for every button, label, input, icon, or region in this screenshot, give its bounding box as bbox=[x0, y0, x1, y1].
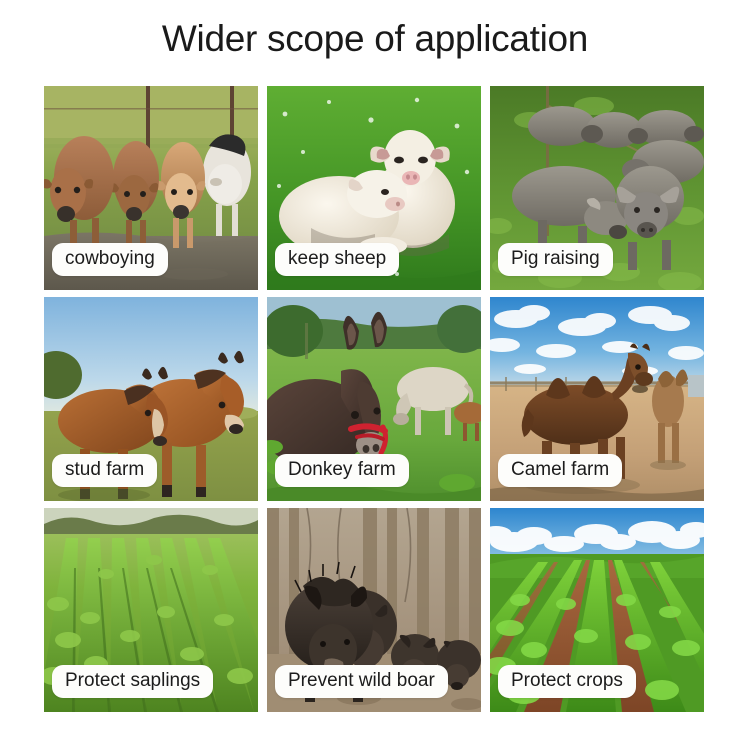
cell-label-keep-sheep: keep sheep bbox=[275, 243, 399, 276]
grid-cell-cowboying[interactable]: cowboying bbox=[44, 86, 258, 290]
grid-cell-protect-crops[interactable]: Protect crops bbox=[490, 508, 704, 712]
grid-cell-camel-farm[interactable]: Camel farm bbox=[490, 297, 704, 501]
grid-cell-prevent-wild-boar[interactable]: Prevent wild boar bbox=[267, 508, 481, 712]
cell-label-protect-saplings: Protect saplings bbox=[52, 665, 213, 698]
page-title: Wider scope of application bbox=[0, 18, 750, 60]
application-grid: cowboying bbox=[44, 86, 704, 712]
grid-cell-donkey-farm[interactable]: Donkey farm bbox=[267, 297, 481, 501]
application-scope-infographic: Wider scope of application bbox=[0, 0, 750, 750]
cell-label-camel-farm: Camel farm bbox=[498, 454, 622, 487]
grid-cell-keep-sheep[interactable]: keep sheep bbox=[267, 86, 481, 290]
cell-label-cowboying: cowboying bbox=[52, 243, 168, 276]
grid-cell-protect-saplings[interactable]: Protect saplings bbox=[44, 508, 258, 712]
grid-cell-stud-farm[interactable]: stud farm bbox=[44, 297, 258, 501]
grid-cell-pig-raising[interactable]: Pig raising bbox=[490, 86, 704, 290]
cell-label-pig-raising: Pig raising bbox=[498, 243, 613, 276]
cell-label-prevent-wild-boar: Prevent wild boar bbox=[275, 665, 448, 698]
cell-label-stud-farm: stud farm bbox=[52, 454, 157, 487]
cell-label-protect-crops: Protect crops bbox=[498, 665, 636, 698]
cell-label-donkey-farm: Donkey farm bbox=[275, 454, 409, 487]
